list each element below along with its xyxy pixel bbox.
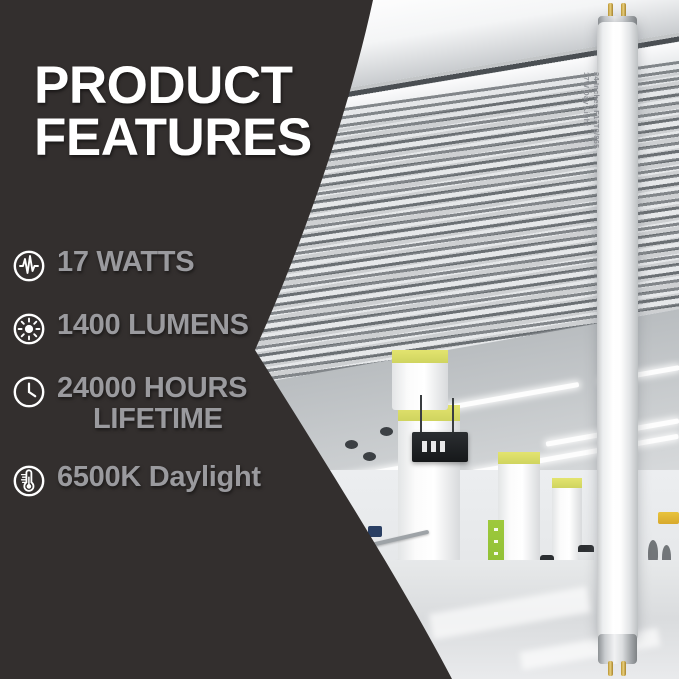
feature-label-lumens: 1400 LUMENS <box>57 309 249 341</box>
tube-glass-body <box>597 22 638 642</box>
tube-printed-label: 24 Inches F17T8/865 17W Day Light <box>582 72 601 202</box>
title-line-2: FEATURES <box>34 112 364 164</box>
product-features-infographic: PRODUCT FEATURES 17 WATTS <box>0 0 679 679</box>
sign-glyph <box>422 441 448 452</box>
pulse-waveform-icon <box>12 249 46 283</box>
column-cap <box>552 478 582 488</box>
feature-label-lifetime-line2: LIFETIME <box>57 404 247 435</box>
feature-label-color-temperature: 6500K Daylight <box>57 461 261 493</box>
feature-item-lumens: 1400 LUMENS <box>12 309 352 346</box>
tube-end-cap-bottom <box>598 634 637 664</box>
feature-item-lifetime: 24000 HOURS LIFETIME <box>12 372 352 435</box>
ceiling-spotlight <box>363 452 376 461</box>
sun-brightness-icon <box>12 312 46 346</box>
feature-item-watts: 17 WATTS <box>12 246 352 283</box>
bi-pin-bottom-left <box>608 661 613 676</box>
amber-signage <box>658 512 679 524</box>
ceiling-spotlight <box>380 427 393 436</box>
fluorescent-tube-product: 24 Inches F17T8/865 17W Day Light <box>597 0 638 679</box>
feature-label-lifetime: 24000 HOURS LIFETIME <box>57 372 247 435</box>
column-cap <box>392 350 448 363</box>
feature-item-color-temperature: 6500K Daylight <box>12 461 352 498</box>
thermometer-icon <box>12 464 46 498</box>
bi-pin-bottom-right <box>621 661 626 676</box>
column-cap <box>498 452 540 464</box>
feature-label-lifetime-line1: 24000 HOURS <box>57 372 247 404</box>
tube-print-line-1: 24 Inches F17T8/865 <box>592 72 602 202</box>
feature-label-watts: 17 WATTS <box>57 246 194 278</box>
title-line-1: PRODUCT <box>34 56 293 115</box>
page-title: PRODUCT FEATURES <box>34 60 364 164</box>
clock-icon <box>12 375 46 409</box>
monitor-screen <box>368 526 382 537</box>
tube-print-line-2: 17W Day Light <box>582 72 592 202</box>
information-display-sign <box>412 432 468 462</box>
feature-list: 17 WATTS <box>12 246 352 524</box>
gate-top <box>578 545 594 552</box>
